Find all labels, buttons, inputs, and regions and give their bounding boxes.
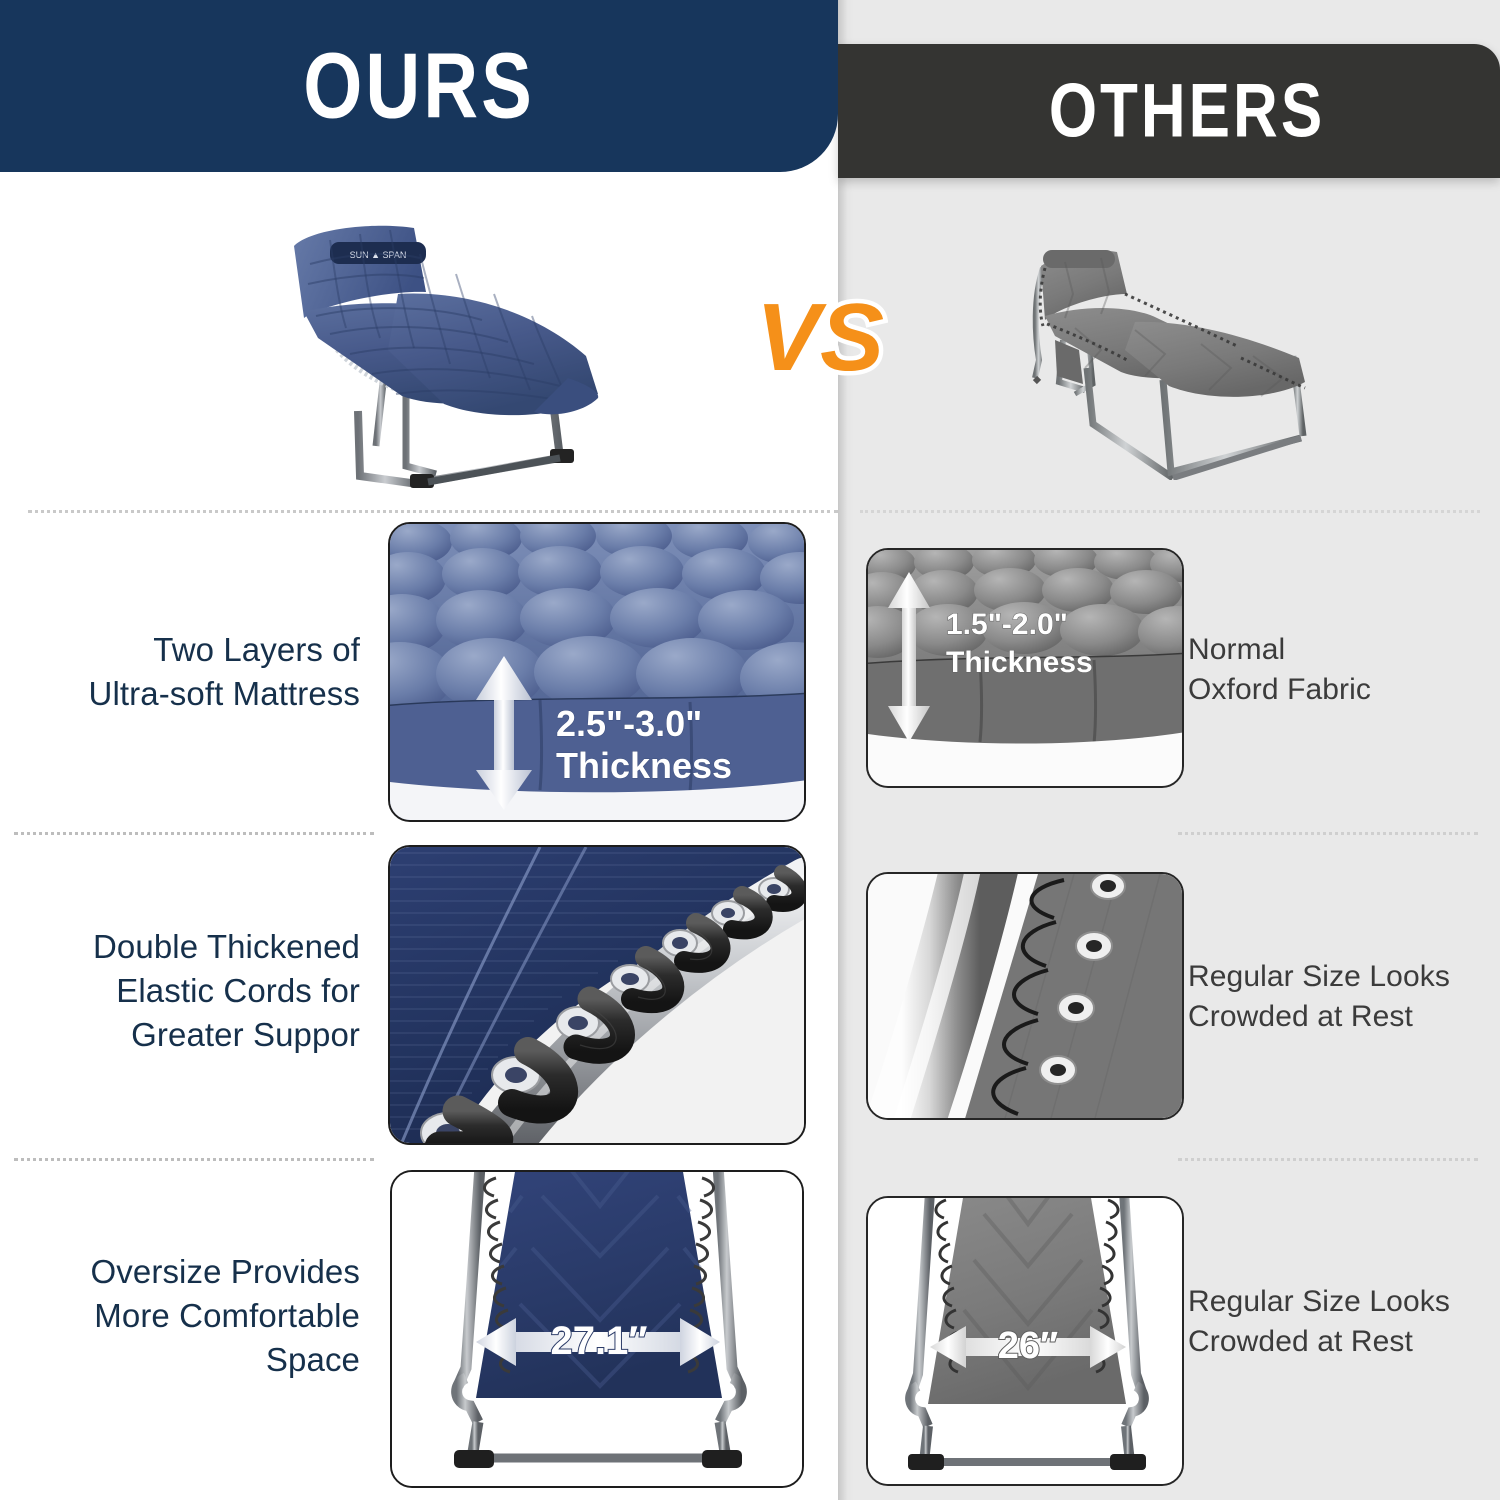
blue-mattress-closeup: 2.5"-3.0" Thickness: [390, 524, 806, 822]
divider-mattress-left: [14, 832, 374, 835]
others-header-label: OTHERS: [1049, 68, 1325, 155]
others-hero-product-image: [1005, 232, 1325, 480]
others-thickness-unit: Thickness: [946, 646, 1093, 679]
others-width-value: 26″: [998, 1325, 1058, 1367]
others-header-banner: OTHERS: [838, 44, 1500, 178]
divider-cords-left: [14, 1158, 374, 1161]
ours-thickness-unit: Thickness: [556, 745, 732, 786]
comparison-infographic: OURS OTHERS: [0, 0, 1500, 1500]
others-card-size: 26″: [866, 1196, 1184, 1486]
others-label-cords: Regular Size Looks Crowded at Rest: [1188, 957, 1498, 1037]
others-thickness-value: 1.5"-2.0": [946, 608, 1068, 641]
vs-icon: VS: [752, 286, 888, 390]
ours-thickness-value: 2.5"-3.0": [556, 703, 702, 744]
others-card-mattress: 1.5"-2.0" Thickness: [866, 548, 1184, 788]
divider-cords-right: [1178, 1158, 1478, 1161]
blue-elastic-cords-closeup: [390, 847, 806, 1145]
ours-header-label: OURS: [303, 33, 535, 139]
vs-badge: VS: [752, 286, 888, 390]
vs-text: VS: [756, 286, 884, 390]
others-label-mattress: Normal Oxford Fabric: [1188, 630, 1488, 710]
ours-label-mattress: Two Layers of Ultra-soft Mattress: [60, 628, 360, 716]
ours-label-size: Oversize Provides More Comfortable Space: [50, 1250, 360, 1382]
blue-cot-illustration: SUN ▲ SPAN: [268, 206, 608, 496]
ours-header-banner: OURS: [0, 0, 838, 172]
others-card-cords: [866, 872, 1184, 1120]
ours-card-size: 27.1″: [390, 1170, 804, 1488]
divider-mattress-right: [1178, 832, 1478, 835]
divider-hero-right: [860, 510, 1480, 513]
blue-cot-width-closeup: 27.1″: [392, 1172, 804, 1488]
gray-mattress-closeup: 1.5"-2.0" Thickness: [868, 550, 1184, 788]
gray-thin-cords-closeup: [868, 874, 1184, 1120]
ours-label-cords: Double Thickened Elastic Cords for Great…: [50, 925, 360, 1057]
ours-card-mattress: 2.5"-3.0" Thickness: [388, 522, 806, 822]
others-label-size: Regular Size Looks Crowded at Rest: [1188, 1282, 1498, 1362]
ours-card-cords: [388, 845, 806, 1145]
gray-cot-illustration: [1005, 232, 1325, 480]
ours-hero-product-image: SUN ▲ SPAN: [268, 206, 608, 496]
ours-width-value: 27.1″: [550, 1319, 647, 1363]
gray-cot-width-closeup: 26″: [868, 1198, 1184, 1486]
divider-hero-left: [28, 510, 838, 513]
